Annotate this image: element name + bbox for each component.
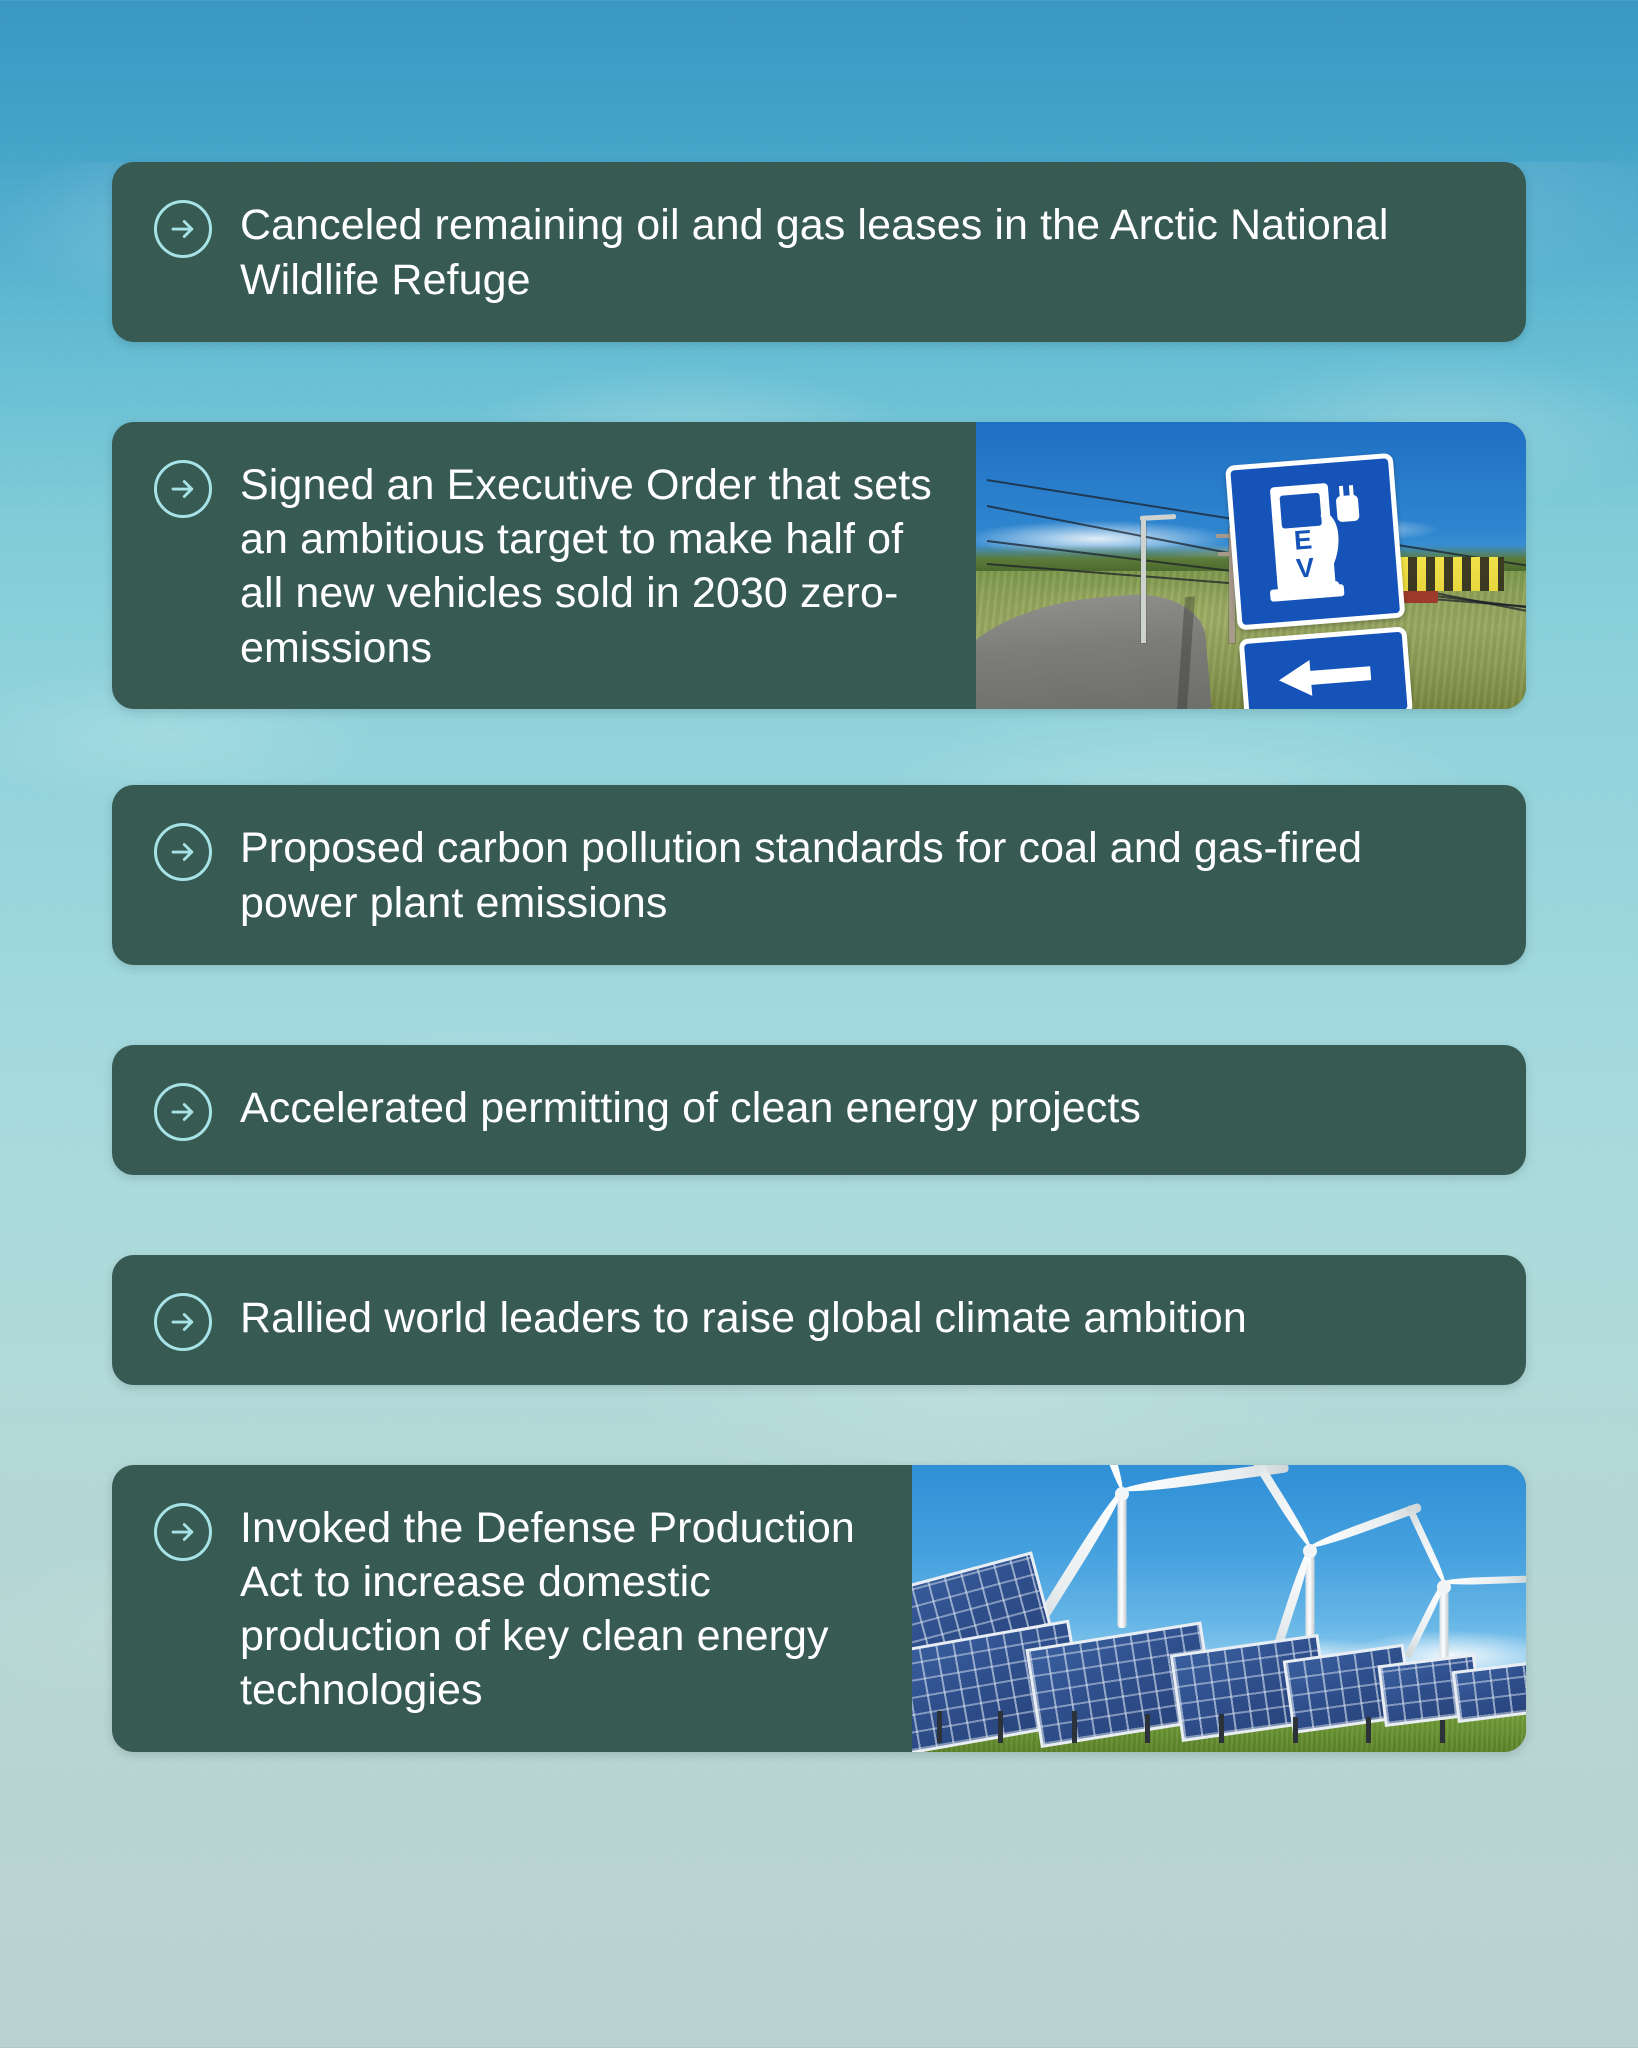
panel-support-leg (1072, 1711, 1077, 1743)
arrow-right-circle-icon (154, 1293, 212, 1351)
card-content: Canceled remaining oil and gas leases in… (112, 162, 1526, 342)
svg-text:V: V (1295, 552, 1315, 583)
panel-support-leg (1293, 1717, 1298, 1743)
list-item: Canceled remaining oil and gas leases in… (112, 162, 1526, 342)
list-item: Proposed carbon pollution standards for … (112, 785, 1526, 965)
list-item: Rallied world leaders to raise global cl… (112, 1255, 1526, 1385)
panel-support-leg (1366, 1717, 1371, 1743)
arrow-right-circle-icon (154, 1083, 212, 1141)
photo-alt-text: Blue roadside EV charging station sign w… (976, 422, 977, 423)
panel-support-leg (1219, 1714, 1224, 1743)
card-content: Rallied world leaders to raise global cl… (112, 1255, 1526, 1385)
turbine-hub (1437, 1580, 1451, 1594)
card-text: Proposed carbon pollution standards for … (240, 819, 1486, 931)
wind-turbine (1047, 1468, 1197, 1629)
list-item: Signed an Executive Order that sets an a… (112, 422, 1526, 709)
arrow-right-circle-icon (154, 460, 212, 518)
panel-support-leg (1145, 1714, 1150, 1743)
card-content: Proposed carbon pollution standards for … (112, 785, 1526, 965)
card-content: Signed an Executive Order that sets an a… (112, 422, 976, 709)
card-content: Invoked the Defense Production Act to in… (112, 1465, 912, 1752)
panel-support-leg (937, 1711, 942, 1743)
arrow-right-circle-icon (154, 823, 212, 881)
list-item: Accelerated permitting of clean energy p… (112, 1045, 1526, 1175)
card-content: Accelerated permitting of clean energy p… (112, 1045, 1526, 1175)
turbine-blade (1406, 1504, 1448, 1583)
card-text: Invoked the Defense Production Act to in… (240, 1499, 872, 1718)
panel-support-leg (1440, 1720, 1445, 1743)
solar-panels-wind-turbines-photo: Rows of blue solar panels in a green fie… (912, 1465, 1526, 1752)
turbine-hub (1115, 1487, 1129, 1501)
ev-charging-sign: E V (1224, 453, 1412, 709)
svg-text:E: E (1292, 524, 1312, 555)
accomplishment-card-list: Canceled remaining oil and gas leases in… (0, 162, 1638, 1752)
card-text: Accelerated permitting of clean energy p… (240, 1079, 1141, 1136)
turbine-blade (1243, 1465, 1313, 1550)
arrow-left-icon (1265, 649, 1386, 706)
turbine-mast (1118, 1490, 1127, 1628)
list-item: Invoked the Defense Production Act to in… (112, 1465, 1526, 1752)
photo-alt-text: Rows of blue solar panels in a green fie… (912, 1465, 913, 1466)
card-text: Rallied world leaders to raise global cl… (240, 1289, 1247, 1346)
arrow-right-circle-icon (154, 200, 212, 258)
ev-charger-symbol-plate: E V (1224, 453, 1404, 631)
card-text: Signed an Executive Order that sets an a… (240, 456, 936, 675)
solar-panel (1452, 1662, 1526, 1723)
arrow-right-circle-icon (154, 1503, 212, 1561)
panel-support-leg (998, 1711, 1003, 1743)
utility-pole (1141, 517, 1146, 643)
ev-charger-icon: E V (1251, 472, 1379, 613)
direction-arrow-plate (1238, 627, 1412, 709)
ev-charging-road-sign-photo: E V Blue roadside EV cha (976, 422, 1526, 709)
turbine-hub (1303, 1544, 1317, 1558)
card-text: Canceled remaining oil and gas leases in… (240, 196, 1486, 308)
turbine-blade (1308, 1503, 1422, 1552)
